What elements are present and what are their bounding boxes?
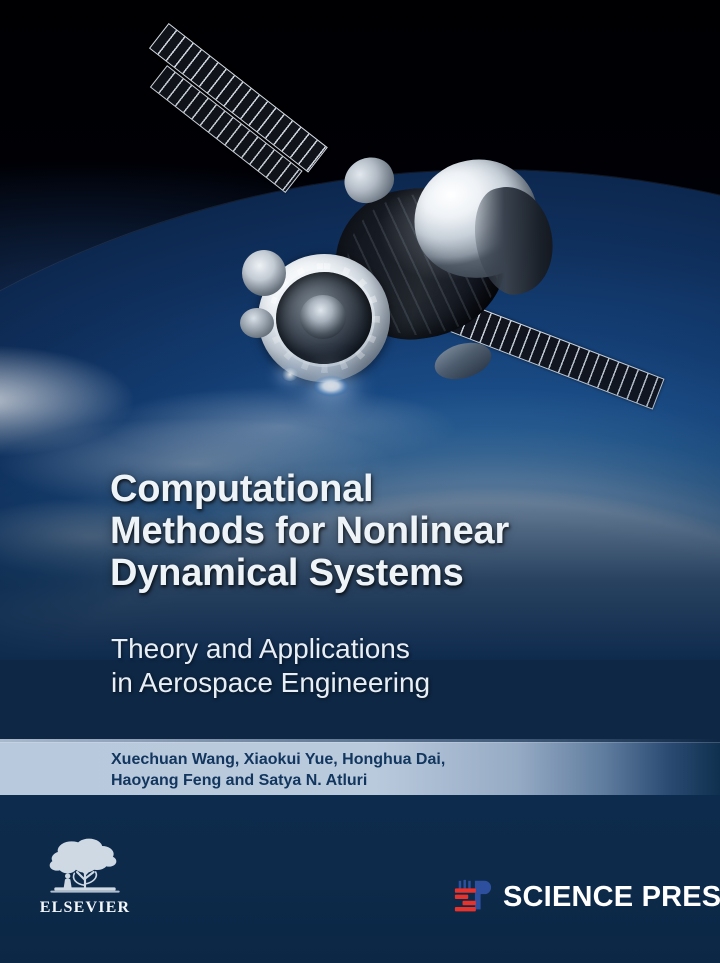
book-authors: Xuechuan Wang, Xiaokui Yue, Honghua Dai,…	[111, 749, 671, 791]
title-line-2: Methods for Nonlinear	[110, 510, 509, 552]
title-line-3: Dynamical Systems	[110, 552, 464, 594]
authors-line-2: Haoyang Feng and Satya N. Atluri	[111, 772, 367, 789]
title-line-1: Computational	[110, 468, 373, 510]
elsevier-logo: ELSEVIER	[37, 836, 133, 917]
science-press-wordmark: SCIENCE PRESS	[503, 881, 720, 914]
cover-text-zone: ComputationalMethods for NonlinearDynami…	[0, 440, 720, 740]
science-press-mark-icon	[452, 877, 494, 917]
book-subtitle: Theory and Applicationsin Aerospace Engi…	[111, 632, 691, 700]
authors-line-1: Xuechuan Wang, Xiaokui Yue, Honghua Dai,	[111, 751, 445, 768]
book-cover: ComputationalMethods for NonlinearDynami…	[0, 0, 720, 963]
elsevier-wordmark: ELSEVIER	[37, 899, 133, 917]
elsevier-tree-icon	[44, 836, 126, 896]
cover-footer: ELSEVIER SCIENCE PRE	[0, 795, 720, 963]
book-title: ComputationalMethods for NonlinearDynami…	[110, 468, 690, 594]
science-press-logo: SCIENCE PRESS	[452, 877, 720, 917]
subtitle-line-2: in Aerospace Engineering	[111, 667, 430, 698]
subtitle-line-1: Theory and Applications	[111, 633, 410, 664]
